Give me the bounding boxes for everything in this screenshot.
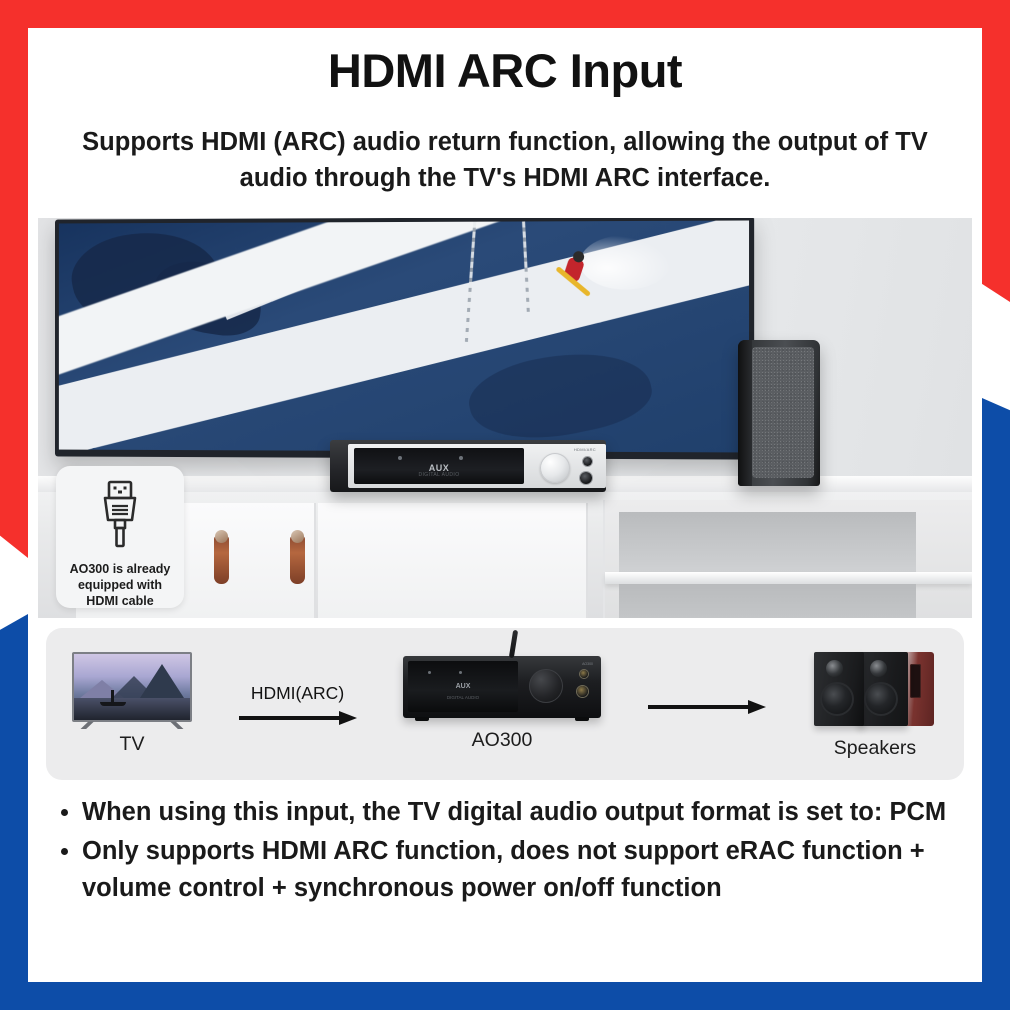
frame-blue-right-bar [982, 398, 1010, 1010]
cabinet-handle [214, 536, 229, 584]
diagram-label-speakers: Speakers [834, 737, 916, 760]
connection-label-hdmi-arc: HDMI(ARC) [251, 683, 344, 704]
speaker-wood-cabinet [904, 652, 934, 726]
headphone-jack[interactable] [580, 670, 588, 678]
aux-jack[interactable] [580, 472, 592, 484]
room-speaker [738, 340, 820, 486]
notes-list: When using this input, the TV digital au… [56, 794, 960, 906]
diagram-connection-hdmi-arc: HDMI(ARC) [239, 683, 357, 726]
tv-thumbnail-screen [74, 654, 190, 720]
amplifier-brand-text: AO300 [582, 662, 593, 666]
mountain-shape [140, 664, 184, 698]
cabinet-door-right [318, 503, 588, 618]
frame-red-left-bar [0, 0, 28, 558]
hdmi-cable-badge: AO300 is already equipped with HDMI cabl… [56, 466, 184, 608]
speaker-unit [858, 652, 908, 726]
arrow-right-icon [648, 699, 766, 715]
diagram-label-tv: TV [120, 733, 145, 756]
note-item: When using this input, the TV digital au… [56, 794, 960, 831]
hero-photo: AUX DIGITAL AUDIO HDMI/ARC [38, 218, 972, 618]
diagram-node-tv: TV [72, 652, 192, 756]
volume-knob[interactable] [540, 453, 570, 483]
ao300-amplifier: AUX DIGITAL AUDIO HDMI/ARC [330, 440, 606, 492]
woofer-driver [864, 682, 898, 716]
aux-jack[interactable] [577, 686, 588, 697]
frame-blue-left-bar [0, 614, 28, 1010]
shelf-cavity [619, 584, 916, 618]
page-subtitle: Supports HDMI (ARC) audio return functio… [68, 124, 942, 196]
snow-spray [580, 235, 671, 290]
snow-rock [462, 337, 657, 453]
diagram-connection-speakers [648, 693, 766, 715]
amplifier-display: AUX DIGITAL AUDIO [354, 448, 524, 484]
signal-flow-diagram: TV HDMI(ARC) AUX DIGITAL AUDIO [46, 628, 964, 780]
person-shape [111, 690, 114, 703]
tweeter-driver [870, 660, 887, 677]
open-shelving [603, 500, 972, 618]
amplifier-icon: AUX DIGITAL AUDIO AO300 [403, 656, 601, 718]
woofer-driver [820, 682, 854, 716]
amplifier-thumbnail-display: AUX DIGITAL AUDIO [408, 661, 518, 712]
amplifier-faceplate: AUX DIGITAL AUDIO HDMI/ARC [348, 444, 606, 488]
speaker-side-panel [738, 340, 752, 486]
arrow-right-icon [239, 710, 357, 726]
display-indicator [428, 671, 431, 674]
volume-knob[interactable] [529, 669, 563, 703]
speaker-unit [814, 652, 864, 726]
display-sub-label: DIGITAL AUDIO [408, 695, 518, 700]
note-item: Only supports HDMI ARC function, does no… [56, 833, 960, 906]
tweeter-driver [826, 660, 843, 677]
display-indicator [459, 456, 463, 460]
amplifier-foot [415, 717, 429, 721]
speaker-grille [752, 347, 814, 478]
antenna [509, 630, 518, 658]
television [55, 218, 754, 460]
content-card: HDMI ARC Input Supports HDMI (ARC) audio… [28, 28, 982, 982]
tv-stand-leg [170, 721, 184, 729]
frame-red-top-bar [0, 0, 1010, 28]
tv-screen-content [59, 221, 749, 453]
page-title: HDMI ARC Input [28, 44, 982, 98]
display-indicator [459, 671, 462, 674]
display-sub-label: DIGITAL AUDIO [354, 472, 524, 478]
hdmi-cable-badge-text: AO300 is already equipped with HDMI cabl… [56, 561, 184, 609]
infographic-page: HDMI ARC Input Supports HDMI (ARC) audio… [0, 0, 1010, 1010]
hdmi-cable-icon [90, 478, 150, 555]
frame-blue-bottom-bar [0, 982, 1010, 1010]
speaker-port [910, 664, 921, 698]
diagram-label-ao300: AO300 [472, 729, 533, 752]
cabinet-handle [290, 536, 305, 584]
display-source-label: AUX [408, 683, 518, 690]
frame-red-right-bar [982, 0, 1010, 302]
diagram-node-ao300: AUX DIGITAL AUDIO AO300 AO300 [403, 656, 601, 752]
diagram-node-speakers: Speakers [812, 648, 938, 760]
shelf-cavity [619, 512, 916, 572]
amplifier-brand-text: HDMI/ARC [574, 447, 596, 452]
headphone-jack[interactable] [583, 457, 592, 466]
amplifier-foot [575, 717, 589, 721]
speakers-icon [812, 648, 938, 726]
tv-stand-leg [80, 721, 94, 729]
lake-water [74, 698, 190, 720]
display-indicator [398, 456, 402, 460]
tv-icon [72, 652, 192, 722]
shelf-plank [605, 572, 972, 584]
